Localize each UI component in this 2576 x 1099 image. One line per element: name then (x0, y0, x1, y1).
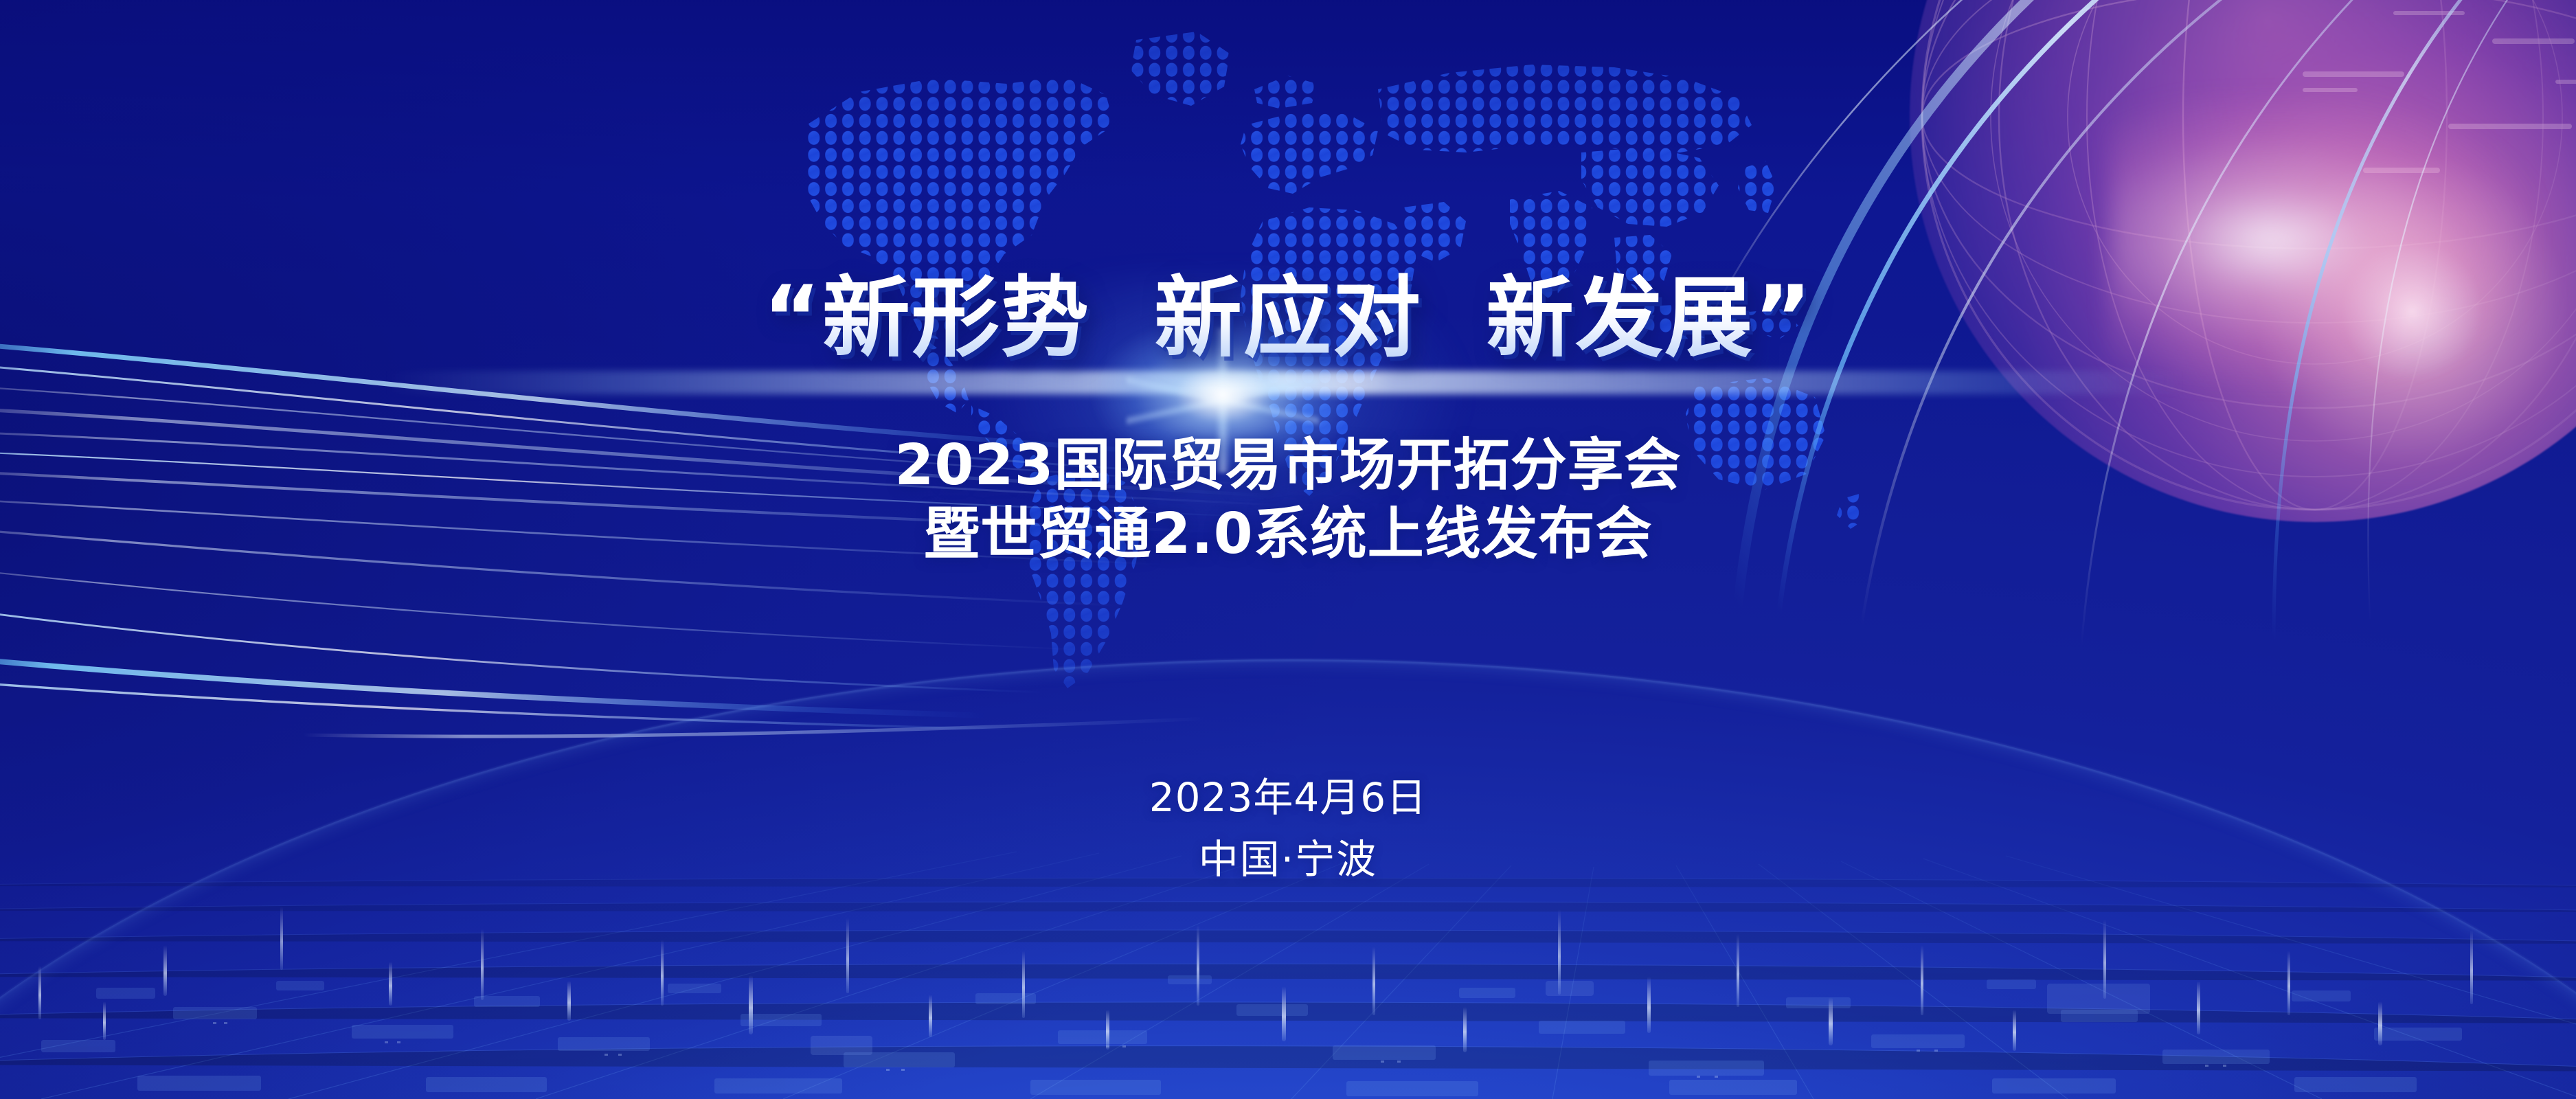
main-title: “新形势 新应对 新发展” (0, 269, 2576, 367)
poster-canvas: “新形势 新应对 新发展” 2023国际贸易市场开拓分享会 暨世贸通2.0系统上… (0, 0, 2576, 1099)
subtitle-line-1: 2023国际贸易市场开拓分享会 (894, 433, 1681, 498)
event-location: 中国·宁波 (0, 827, 2576, 885)
poster-content: “新形势 新应对 新发展” 2023国际贸易市场开拓分享会 暨世贸通2.0系统上… (0, 0, 2576, 1099)
subtitle-line-2: 暨世贸通2.0系统上线发布会 (0, 500, 2576, 569)
subtitle-block: 2023国际贸易市场开拓分享会 暨世贸通2.0系统上线发布会 (0, 431, 2576, 569)
event-date: 2023年4月6日 (0, 765, 2576, 823)
